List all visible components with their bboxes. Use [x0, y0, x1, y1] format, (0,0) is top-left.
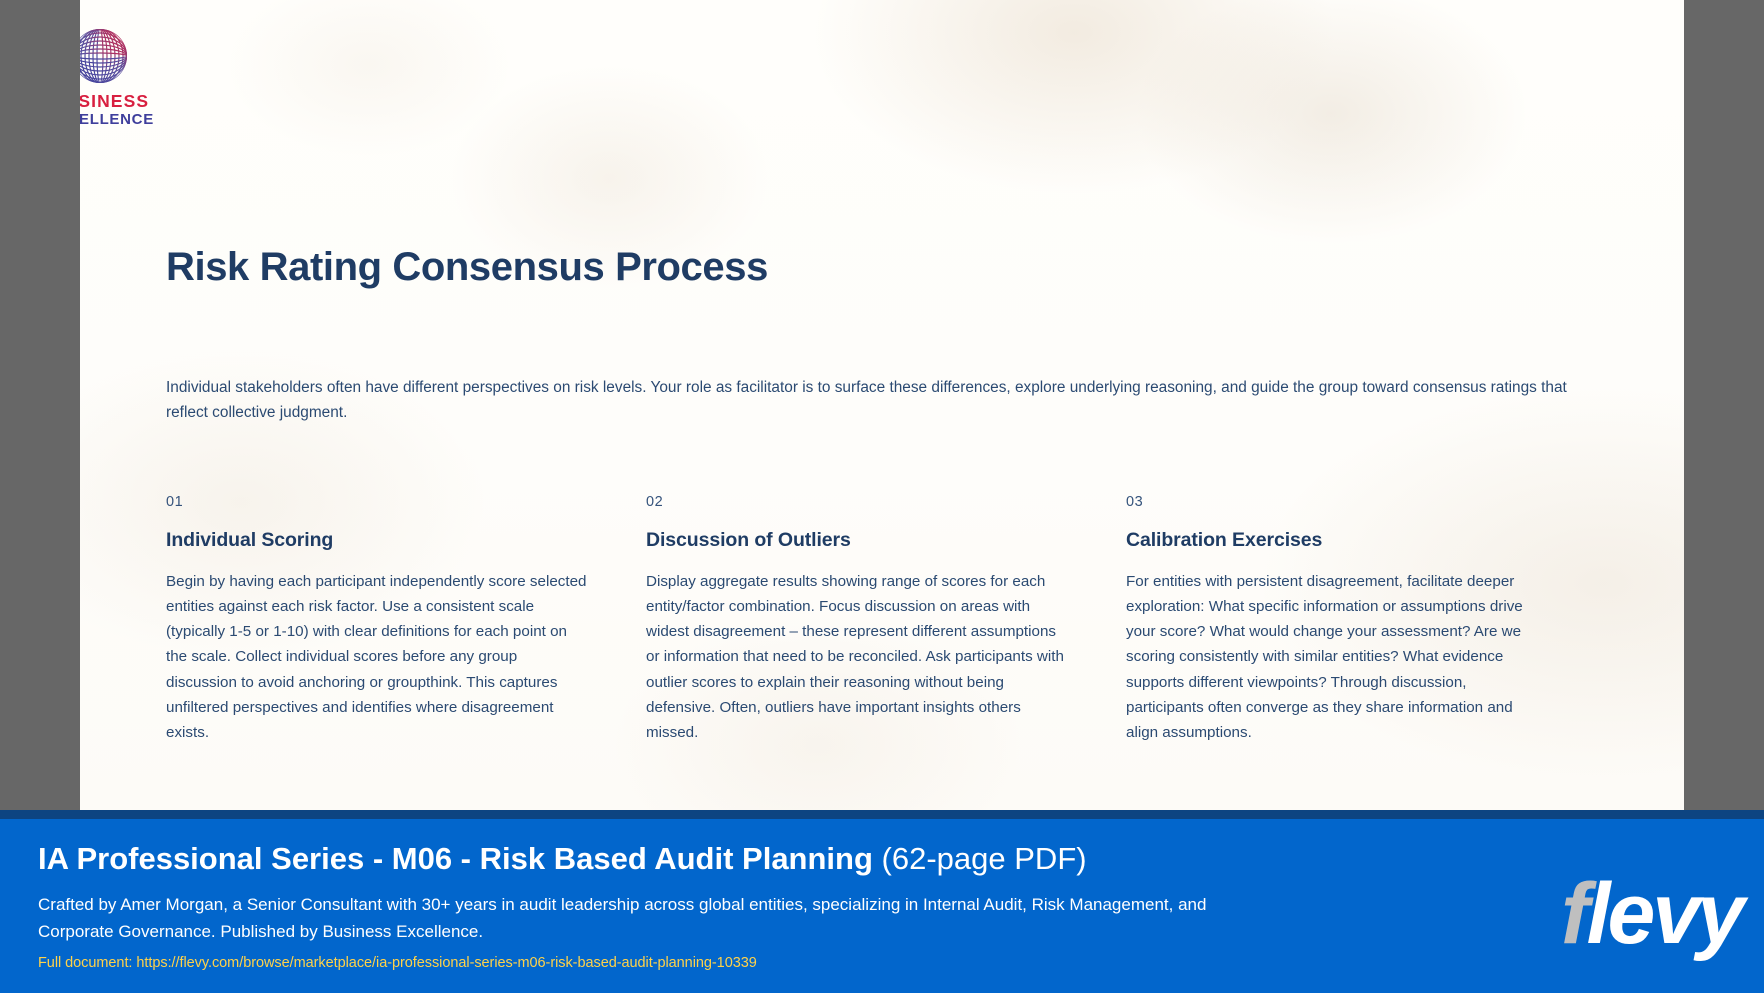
footer-divider-rule: [0, 810, 1764, 819]
step-item-03: 03 Calibration Exercises For entities wi…: [1126, 494, 1606, 746]
intro-paragraph: Individual stakeholders often have diffe…: [166, 375, 1591, 425]
flevy-footer-banner: IA Professional Series - M06 - Risk Base…: [0, 819, 1764, 993]
step-heading: Individual Scoring: [166, 529, 588, 552]
footer-document-link[interactable]: Full document: https://flevy.com/browse/…: [38, 955, 1298, 971]
step-item-02: 02 Discussion of Outliers Display aggreg…: [646, 494, 1126, 746]
globe-sphere-icon: [80, 24, 132, 88]
business-excellence-logo: BUSINESS EXCELLENCE: [80, 24, 164, 127]
step-number: 03: [1126, 494, 1548, 510]
step-body: For entities with persistent disagreemen…: [1126, 569, 1548, 746]
step-body: Begin by having each participant indepen…: [166, 569, 588, 746]
step-number: 01: [166, 494, 588, 510]
footer-title-main: IA Professional Series - M06 - Risk Base…: [38, 841, 873, 876]
brand-subname: EXCELLENCE: [80, 112, 164, 127]
flevy-logo[interactable]: flevy: [1561, 871, 1742, 957]
page-title: Risk Rating Consensus Process: [166, 245, 1684, 290]
footer-text-block: IA Professional Series - M06 - Risk Base…: [38, 840, 1298, 971]
step-item-01: 01 Individual Scoring Begin by having ea…: [166, 494, 646, 746]
footer-document-title: IA Professional Series - M06 - Risk Base…: [38, 840, 1298, 879]
flevy-logo-levy: levy: [1587, 866, 1742, 962]
screenshot-viewport: BUSINESS EXCELLENCE Risk Rating Consensu…: [0, 0, 1764, 993]
steps-row-first: 01 Individual Scoring Begin by having ea…: [166, 494, 1606, 746]
flevy-logo-f: f: [1561, 866, 1587, 962]
step-heading: Calibration Exercises: [1126, 529, 1548, 552]
presentation-slide: BUSINESS EXCELLENCE Risk Rating Consensu…: [80, 0, 1684, 810]
step-body: Display aggregate results showing range …: [646, 569, 1068, 746]
footer-description: Crafted by Amer Morgan, a Senior Consult…: [38, 891, 1248, 945]
step-number: 02: [646, 494, 1068, 510]
footer-title-pagecount: (62-page PDF): [882, 841, 1087, 876]
step-heading: Discussion of Outliers: [646, 529, 1068, 552]
brand-name: BUSINESS: [80, 93, 164, 111]
